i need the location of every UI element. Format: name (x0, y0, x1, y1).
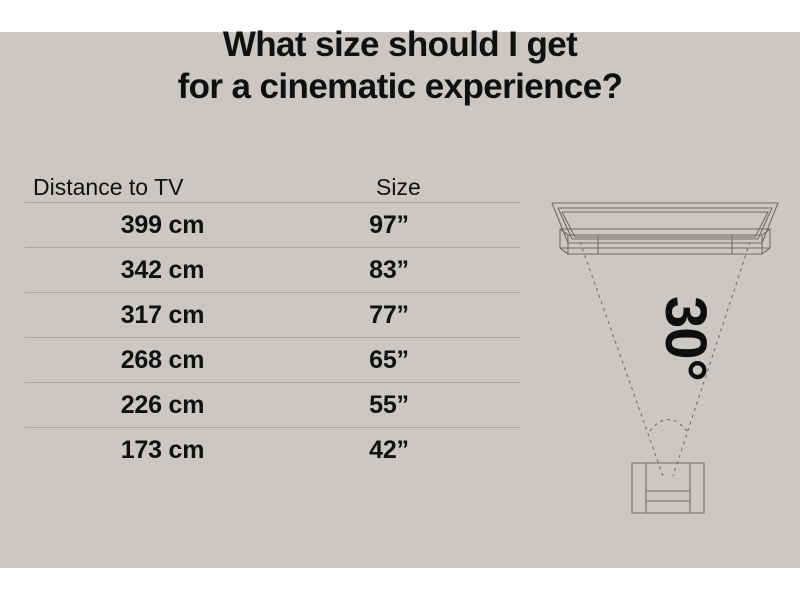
cell-size: 55” (300, 391, 520, 419)
column-header-distance: Distance to TV (25, 174, 300, 200)
cell-size: 42” (300, 436, 520, 464)
cell-size: 97” (300, 211, 520, 239)
cell-distance: 317 cm (25, 301, 300, 329)
page-title-line-1: What size should I get (0, 24, 800, 66)
table-row: 399 cm 97” (25, 202, 520, 247)
table-row: 342 cm 83” (25, 247, 520, 292)
table-row: 268 cm 65” (25, 337, 520, 382)
size-distance-table: Distance to TV Size 399 cm 97” 342 cm 83… (25, 158, 520, 472)
column-header-size: Size (300, 174, 520, 200)
cell-size: 83” (300, 256, 520, 284)
cell-size: 77” (300, 301, 520, 329)
cell-distance: 342 cm (25, 256, 300, 284)
table-row: 317 cm 77” (25, 292, 520, 337)
table-header-row: Distance to TV Size (25, 158, 520, 202)
viewing-angle-label: 30° (628, 296, 714, 366)
page-title: What size should I get for a cinematic e… (0, 24, 800, 108)
cell-size: 65” (300, 346, 520, 374)
sofa-top-view (632, 463, 704, 513)
table-row: 226 cm 55” (25, 382, 520, 427)
cell-distance: 226 cm (25, 391, 300, 419)
cell-distance: 173 cm (25, 436, 300, 464)
tv-top-view (552, 203, 778, 254)
infographic-page: What size should I get for a cinematic e… (0, 0, 800, 600)
table-row: 173 cm 42” (25, 427, 520, 472)
cell-distance: 399 cm (25, 211, 300, 239)
page-title-line-2: for a cinematic experience? (0, 66, 800, 108)
cell-distance: 268 cm (25, 346, 300, 374)
